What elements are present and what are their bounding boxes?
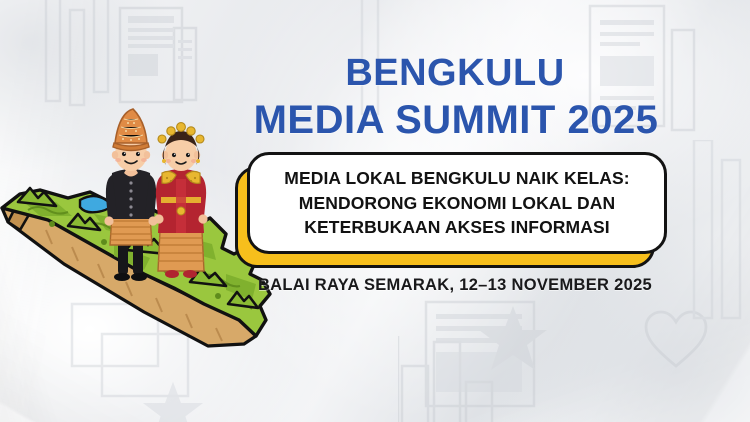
subtitle-plaque: MEDIA LOKAL BENGKULU NAIK KELAS: MENDORO…	[247, 152, 667, 254]
page-title-line-2: MEDIA SUMMIT 2025	[0, 98, 750, 143]
venue-date-text: BALAI RAYA SEMARAK, 12–13 NOVEMBER 2025	[0, 276, 750, 295]
page-title-line-1: BENGKULU	[0, 52, 750, 95]
subtitle-line-2: MENDORONG EKONOMI LOKAL DAN	[299, 191, 615, 216]
star-icon	[478, 304, 548, 374]
poster-canvas: BENGKULU MEDIA SUMMIT 2025 MEDIA LOKAL B…	[0, 0, 750, 422]
subtitle-line-1: MEDIA LOKAL BENGKULU NAIK KELAS:	[284, 166, 629, 191]
woman-traditional-attire	[154, 123, 207, 278]
subtitle-box: MEDIA LOKAL BENGKULU NAIK KELAS: MENDORO…	[247, 152, 667, 254]
subtitle-line-3: KETERBUKAAN AKSES INFORMASI	[304, 215, 609, 240]
